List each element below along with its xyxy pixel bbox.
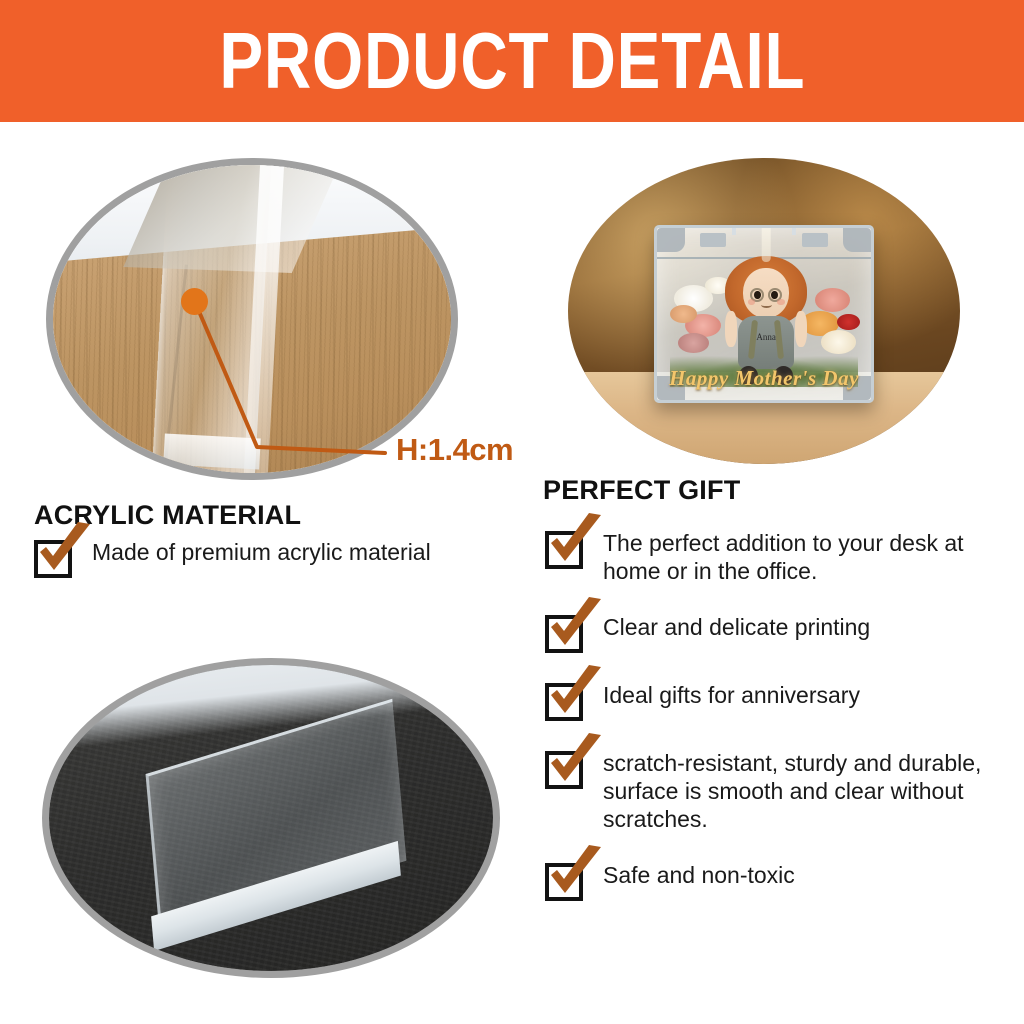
acrylic-briefcase: Anna Happy Mother's Day [654,225,874,402]
section-heading-perfect-gift: PERFECT GIFT [543,475,740,506]
engraved-greeting: Happy Mother's Day [657,366,871,391]
check-item: Made of premium acrylic material [34,534,524,578]
page-title: PRODUCT DETAIL [219,21,805,101]
height-callout-label: H:1.4cm [396,432,513,468]
checkbox-checked[interactable] [545,863,583,901]
doll-arm-right [795,311,807,347]
check-mark-icon [545,845,607,903]
wood-scene [53,165,451,473]
product-scene: Anna Happy Mother's Day [568,158,960,464]
doll-name-label: Anna [738,332,794,342]
header-banner: PRODUCT DETAIL [0,0,1024,122]
check-item: Ideal gifts for anniversary [545,677,1015,721]
acrylic-edge-scene [53,165,451,473]
check-item-label: The perfect addition to your desk at hom… [603,525,1015,585]
check-mark-icon [545,733,607,791]
measure-point-dot [181,288,208,315]
checkbox-checked[interactable] [545,531,583,569]
check-item: Clear and delicate printing [545,609,1015,653]
doll-smile [761,302,772,308]
check-mark-icon [545,597,607,655]
checkbox-checked[interactable] [34,540,72,578]
check-item-label: Ideal gifts for anniversary [603,677,860,709]
acrylic-slab-photo [42,658,500,978]
doll-sweater: Anna [738,316,794,369]
crochet-doll: Anna [734,256,798,376]
doll-arm-left [725,311,737,347]
product-detail-page: PRODUCT DETAIL [0,0,1024,1024]
doll-face [743,268,789,318]
check-mark-icon [545,513,607,571]
doll-cheek-right [777,299,784,305]
check-item: Safe and non-toxic [545,857,1015,901]
flower-dahlia [815,288,850,312]
ribbon-tail [762,225,771,262]
check-mark-icon [545,665,607,723]
product-photo: Anna Happy Mother's Day [568,158,960,464]
check-mark-icon [34,522,96,580]
checkbox-checked[interactable] [545,683,583,721]
case-latch-right [802,233,828,247]
doll-cheek-left [748,299,755,305]
check-item-label: Safe and non-toxic [603,857,795,889]
checkbox-checked[interactable] [545,751,583,789]
check-item-label: Made of premium acrylic material [92,534,431,566]
check-item-label: Clear and delicate printing [603,609,870,641]
check-item-label: scratch-resistant, sturdy and durable, s… [603,745,1015,833]
check-list-perfect-gift: The perfect addition to your desk at hom… [545,525,1015,925]
check-item: The perfect addition to your desk at hom… [545,525,1015,585]
check-list-acrylic-material: Made of premium acrylic material [34,534,524,588]
checkbox-checked[interactable] [545,615,583,653]
check-item: scratch-resistant, sturdy and durable, s… [545,745,1015,833]
flower-red-carnation [837,314,861,331]
case-latch-left [700,233,726,247]
acrylic-block-base [164,434,261,470]
acrylic-slab-scene [49,665,493,971]
